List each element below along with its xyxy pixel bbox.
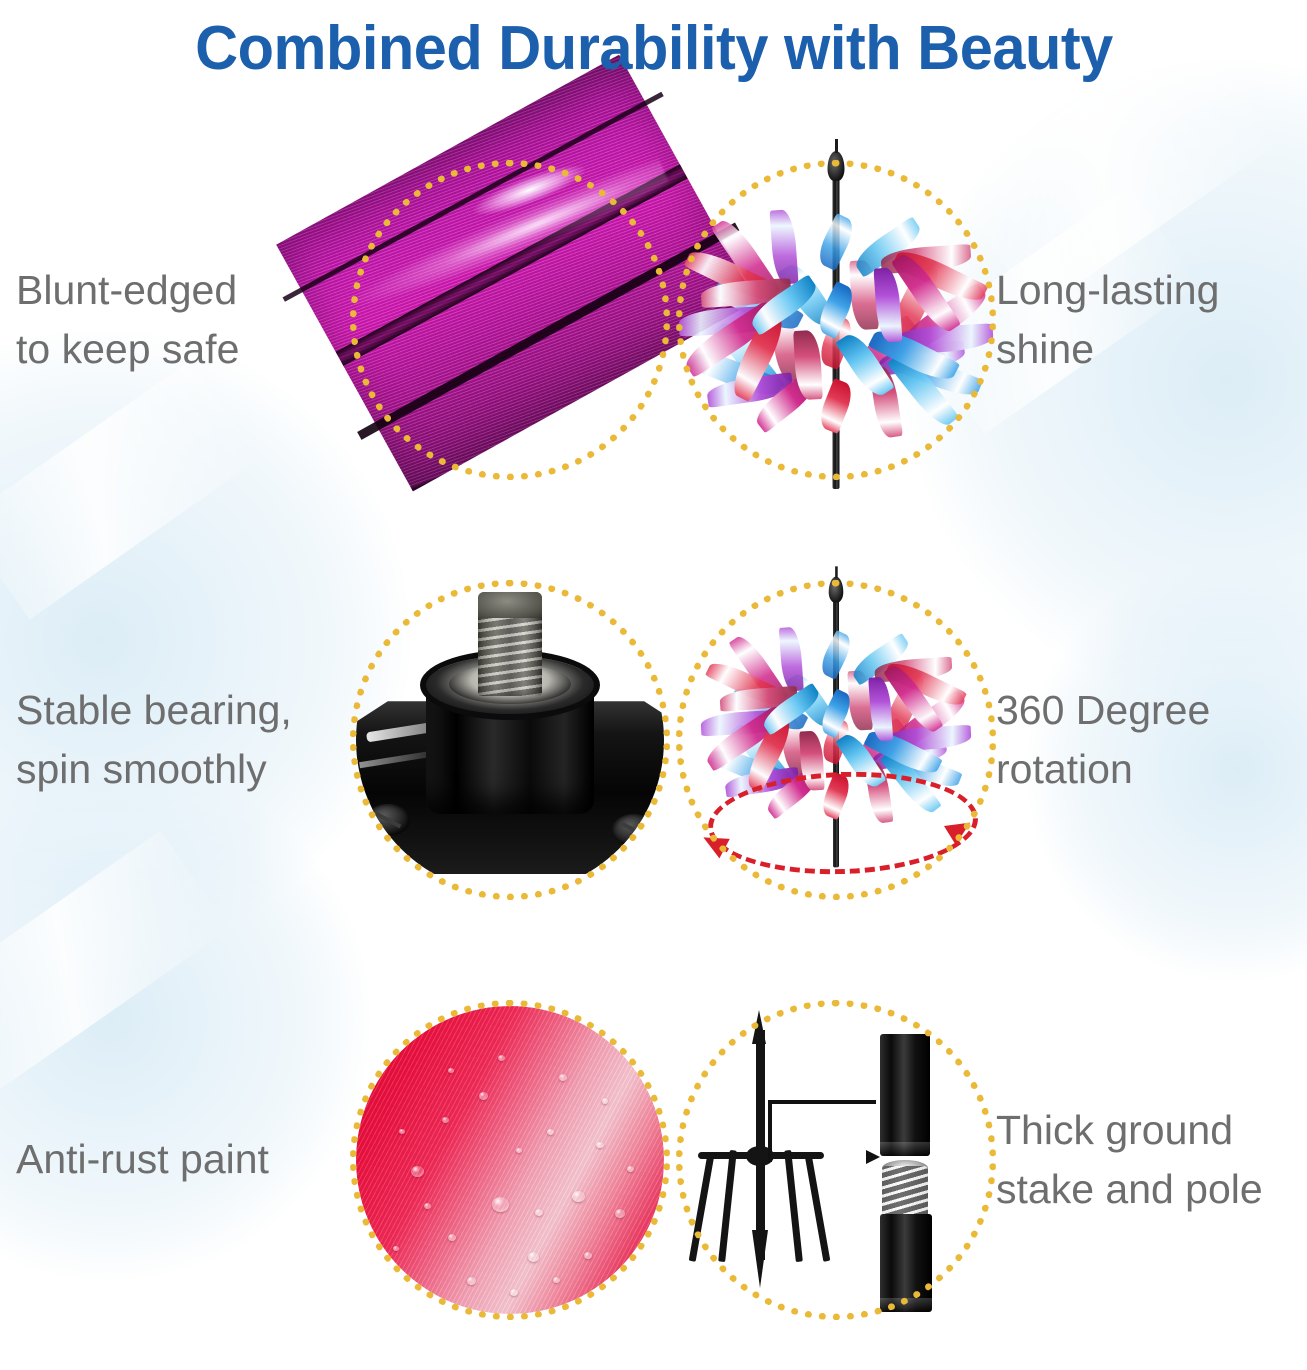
feature-image-360-rotation	[676, 580, 996, 900]
page-header: Combined Durability with Beauty	[0, 0, 1307, 96]
feature-caption-long-lasting-shine: Long-lasting shine	[996, 110, 1296, 530]
caption-line: Thick ground	[996, 1101, 1233, 1160]
feature-caption-blunt-edged: Blunt-edged to keep safe	[16, 110, 332, 530]
caption-line: Long-lasting	[996, 261, 1219, 320]
caption-line: stake and pole	[996, 1160, 1263, 1219]
feature-row-2: Stable bearing, spin smoothly 360 Degree…	[0, 530, 1307, 950]
caption-line: Stable bearing,	[16, 681, 292, 740]
feature-image-thick-ground-stake	[676, 1000, 996, 1320]
caption-line: shine	[996, 320, 1094, 379]
dotted-circle-border	[350, 1000, 670, 1320]
caption-line: 360 Degree	[996, 681, 1210, 740]
feature-caption-anti-rust-paint: Anti-rust paint	[16, 950, 332, 1370]
caption-line: rotation	[996, 740, 1133, 799]
feature-image-long-lasting-shine	[676, 160, 996, 480]
dotted-circle-border	[676, 1000, 996, 1320]
dotted-circle-border	[676, 160, 996, 480]
dotted-circle-border	[350, 580, 670, 900]
dotted-circle-border	[350, 160, 670, 480]
feature-image-anti-rust-paint	[350, 1000, 670, 1320]
feature-image-blunt-edged	[350, 160, 670, 480]
caption-line: Anti-rust paint	[16, 1130, 269, 1189]
feature-row-3: Anti-rust paint	[0, 950, 1307, 1370]
feature-caption-stable-bearing: Stable bearing, spin smoothly	[16, 530, 332, 950]
caption-line: to keep safe	[16, 320, 239, 379]
caption-line: spin smoothly	[16, 740, 267, 799]
dotted-circle-border	[676, 580, 996, 900]
feature-image-stable-bearing	[350, 580, 670, 900]
caption-line: Blunt-edged	[16, 261, 237, 320]
feature-caption-360-rotation: 360 Degree rotation	[996, 530, 1296, 950]
page-title: Combined Durability with Beauty	[195, 13, 1113, 84]
feature-row-1: Blunt-edged to keep safe Long-lasting sh…	[0, 110, 1307, 530]
feature-caption-thick-ground-stake: Thick ground stake and pole	[996, 950, 1296, 1370]
